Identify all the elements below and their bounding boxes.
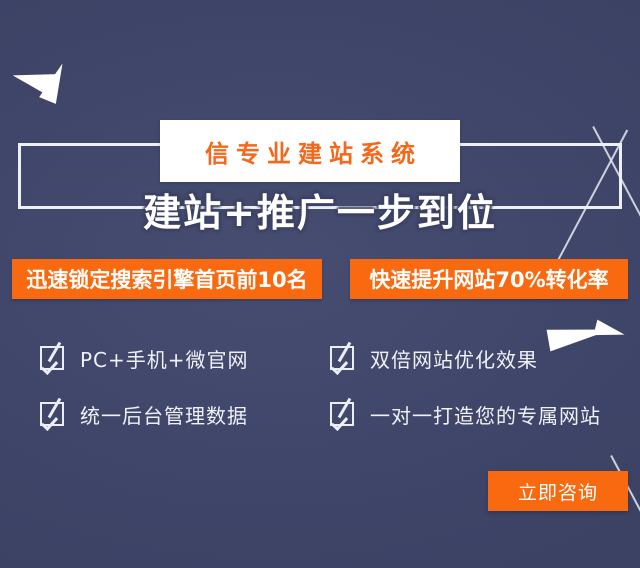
- highlight-strap-seo: 迅速锁定搜索引擎首页前10名: [12, 259, 322, 299]
- feature-label: 双倍网站优化效果: [370, 344, 538, 373]
- list-item: 双倍网站优化效果: [330, 330, 620, 386]
- headline-text: 建站+推广一步到位: [143, 182, 497, 237]
- promo-banner: 信专业建站系统 建站+推广一步到位 迅速锁定搜索引擎首页前10名 快速提升网站7…: [0, 0, 640, 568]
- highlight-strap-label: 迅速锁定搜索引擎首页前10名: [26, 264, 307, 294]
- list-item: 统一后台管理数据: [40, 386, 330, 442]
- brand-badge: 信专业建站系统: [160, 120, 460, 182]
- checkbox-checked-icon: [330, 346, 354, 370]
- brand-badge-label: 信专业建站系统: [198, 134, 422, 169]
- feature-list: PC+手机+微官网 双倍网站优化效果 统一后台管理数据 一对一打造您的专属网站: [40, 330, 620, 442]
- highlight-strap-label: 快速提升网站70%转化率: [369, 264, 608, 294]
- list-item: PC+手机+微官网: [40, 330, 330, 386]
- checkbox-checked-icon: [40, 346, 64, 370]
- checkbox-checked-icon: [40, 402, 64, 426]
- feature-label: 一对一打造您的专属网站: [370, 400, 601, 429]
- consult-now-button[interactable]: 立即咨询: [488, 471, 628, 511]
- feature-label: 统一后台管理数据: [80, 400, 248, 429]
- page-title: 建站+推广一步到位: [0, 180, 640, 238]
- list-item: 一对一打造您的专属网站: [330, 386, 620, 442]
- paper-plane-fin-shape: [39, 60, 71, 104]
- consult-now-button-label: 立即咨询: [518, 478, 598, 505]
- feature-label: PC+手机+微官网: [80, 344, 249, 373]
- highlight-strap-conversion: 快速提升网站70%转化率: [350, 259, 628, 299]
- paper-plane-icon: [12, 58, 78, 114]
- checkbox-checked-icon: [330, 402, 354, 426]
